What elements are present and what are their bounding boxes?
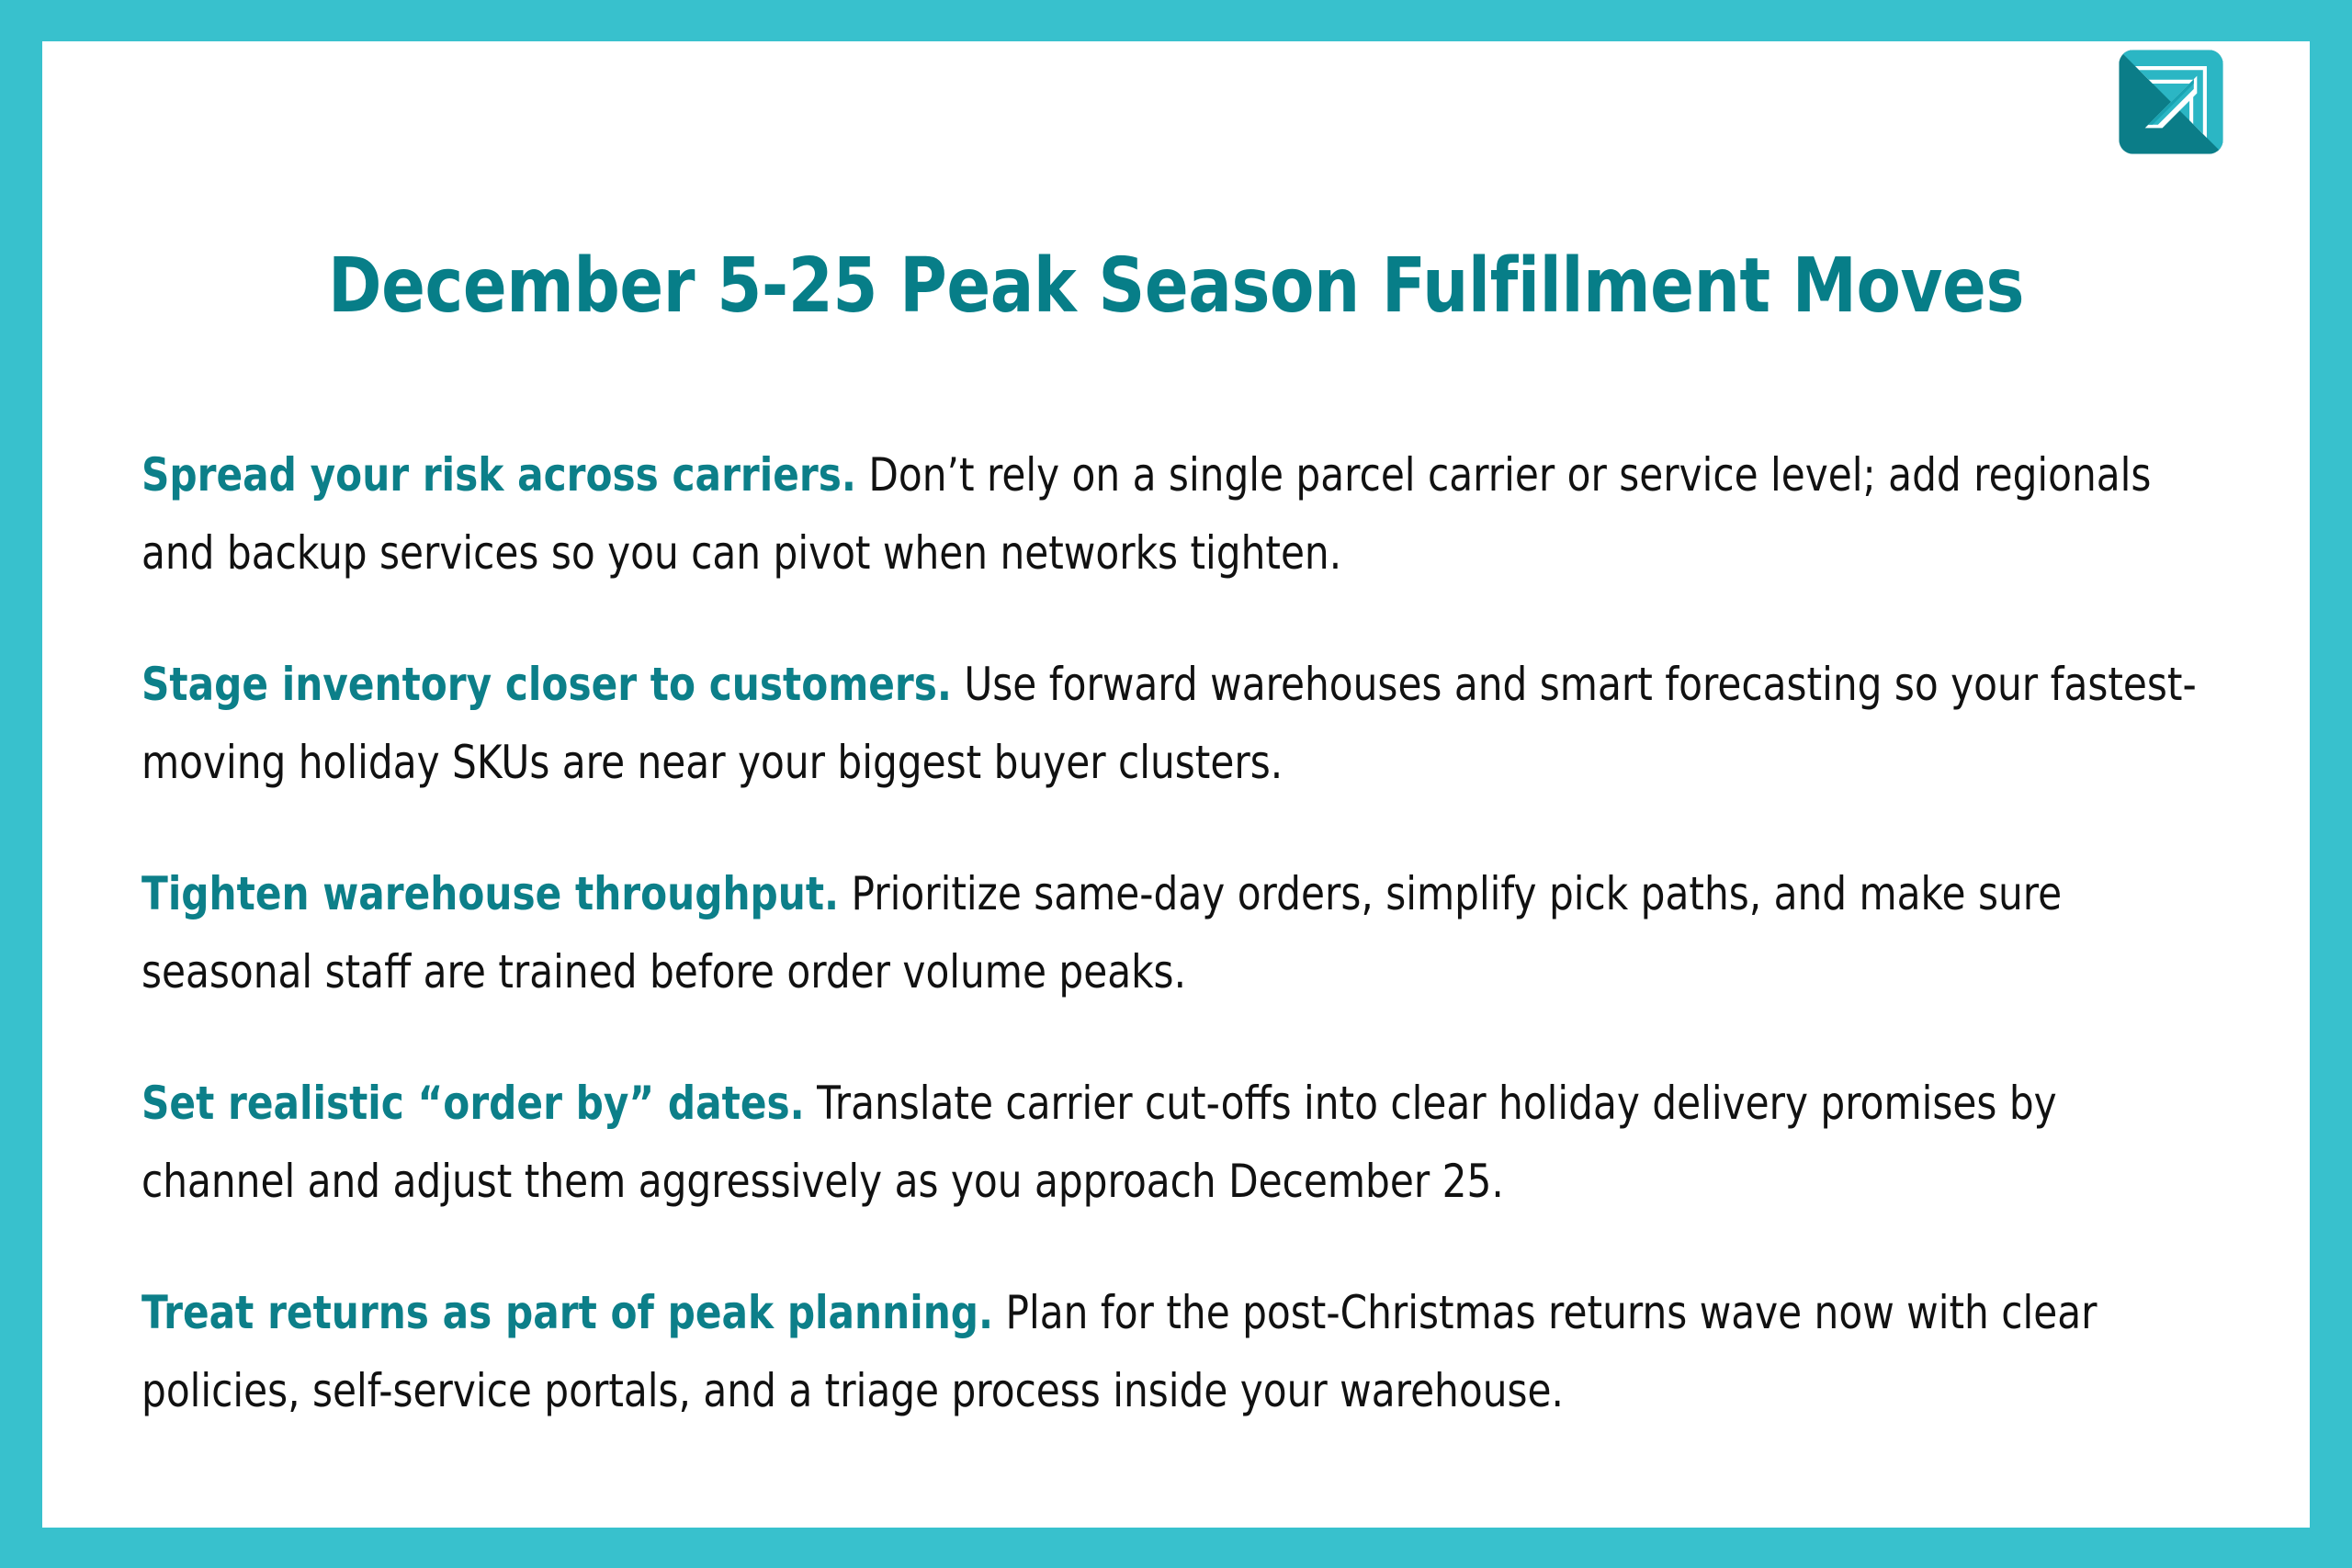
tip-lead-3: Tighten warehouse throughput. [141,867,839,920]
slide-canvas: December 5-25 Peak Season Fulfillment Mo… [0,0,2352,1568]
tip-lead-2: Stage inventory closer to customers. [141,658,952,711]
list-item: Spread your risk across carriers. Don’t … [141,436,2221,592]
arrow-in-rounded-square-icon [2117,48,2225,156]
list-item: Stage inventory closer to customers. Use… [141,646,2221,802]
list-item: Treat returns as part of peak planning. … [141,1274,2221,1430]
page-title: December 5-25 Peak Season Fulfillment Mo… [201,245,2151,328]
tip-lead-1: Spread your risk across carriers. [141,448,856,502]
tips-list: Spread your risk across carriers. Don’t … [141,436,2222,1430]
list-item: Set realistic “order by” dates. Translat… [141,1065,2221,1221]
brand-logo [2117,48,2225,156]
content-card: December 5-25 Peak Season Fulfillment Mo… [42,41,2310,1528]
tip-lead-5: Treat returns as part of peak planning. [141,1286,993,1339]
tip-lead-4: Set realistic “order by” dates. [141,1077,805,1130]
list-item: Tighten warehouse throughput. Prioritize… [141,855,2221,1011]
